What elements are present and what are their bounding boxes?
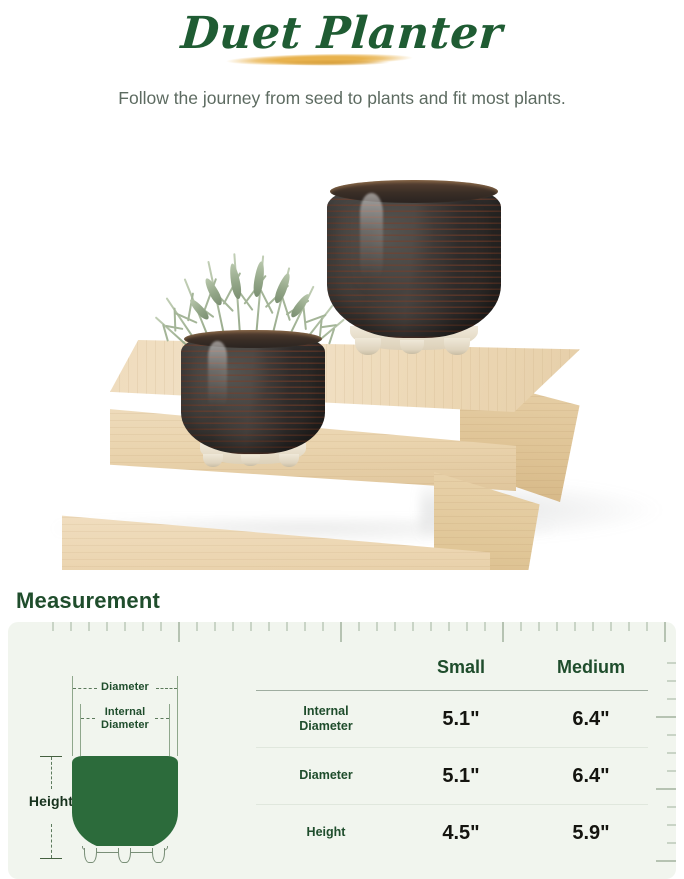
cell-internal-diameter-small: 5.1" <box>396 708 526 731</box>
medium-planter-highlight <box>360 193 383 283</box>
table-row: Diameter 5.1" 6.4" <box>256 748 656 804</box>
ruler-tick <box>574 622 576 631</box>
ruler-tick <box>394 622 396 631</box>
ruler-tick <box>448 622 450 631</box>
ruler-tick <box>106 622 108 631</box>
ruler-tick <box>358 622 360 631</box>
table-row: Height 4.5" 5.9" <box>256 805 656 861</box>
pot-silhouette <box>72 756 178 850</box>
table-header-row: Small Medium <box>256 644 656 690</box>
cell-diameter-medium: 6.4" <box>526 765 656 788</box>
pot-silhouette-foot-left <box>84 848 97 863</box>
internal-diameter-ext-right <box>169 704 170 756</box>
ruler-tick <box>538 622 540 631</box>
ruler-tick <box>628 622 630 631</box>
ruler-tick <box>667 752 676 754</box>
row-label-height: Height <box>256 825 396 840</box>
header-section: Duet Planter Follow the journey from see… <box>0 0 684 150</box>
ruler-tick <box>304 622 306 631</box>
height-cap-bottom <box>40 858 62 859</box>
ruler-tick <box>250 622 252 631</box>
ruler-tick <box>667 734 676 736</box>
ruler-tick <box>610 622 612 631</box>
ruler-tick <box>286 622 288 631</box>
ruler-tick <box>667 770 676 772</box>
hero-stage <box>0 150 684 570</box>
cell-diameter-small: 5.1" <box>396 765 526 788</box>
diameter-dash-right <box>156 688 177 689</box>
ruler-tick <box>196 622 198 631</box>
pot-silhouette-foot-right <box>152 848 165 863</box>
cell-height-medium: 5.9" <box>526 822 656 845</box>
ruler-tick <box>160 622 162 631</box>
pot-silhouette-feet <box>78 848 172 864</box>
ruler-tick <box>88 622 90 631</box>
ruler-tick <box>667 662 676 664</box>
ruler-tick <box>484 622 486 631</box>
ruler-tick <box>556 622 558 631</box>
small-planter <box>181 332 325 454</box>
ruler-tick <box>592 622 594 631</box>
ruler-tick <box>667 698 676 700</box>
small-planter-body <box>181 332 325 454</box>
row-label-line2: Diameter <box>299 719 353 733</box>
internal-diameter-label-line1: Internal <box>105 706 146 718</box>
ruler-tick <box>656 860 676 862</box>
cell-height-small: 4.5" <box>396 822 526 845</box>
small-planter-highlight <box>208 341 227 412</box>
measurement-heading: Measurement <box>16 588 160 614</box>
planter-dimension-diagram: Diameter Internal Diameter Height <box>16 652 256 876</box>
ruler-tick <box>52 622 54 631</box>
ruler-tick <box>466 622 468 631</box>
diameter-ext-right <box>177 676 178 756</box>
ruler-tick <box>646 622 648 631</box>
ruler-tick <box>322 622 324 631</box>
internal-diameter-ext-left <box>80 704 81 756</box>
hero-product-photo <box>0 150 684 570</box>
ruler-tick <box>268 622 270 631</box>
page-title: Duet Planter <box>179 8 504 60</box>
ruler-tick <box>430 622 432 631</box>
row-label-diameter: Diameter <box>256 768 396 783</box>
ruler-tick <box>376 622 378 631</box>
ruler-tick <box>667 680 676 682</box>
internal-diameter-label: Internal Diameter <box>92 706 158 731</box>
ruler-tick <box>178 622 180 642</box>
measurement-panel: Diameter Internal Diameter Height <box>8 622 676 879</box>
height-dash-upper <box>51 757 52 789</box>
ruler-tick <box>656 788 676 790</box>
ruler-tick <box>667 824 676 826</box>
ruler-tick <box>667 806 676 808</box>
ruler-tick <box>70 622 72 631</box>
ruler-tick <box>340 622 342 642</box>
pot-silhouette-foot-center <box>118 848 131 863</box>
table-header-small: Small <box>396 657 526 678</box>
ruler-tick <box>142 622 144 631</box>
height-dash-lower <box>51 824 52 858</box>
ruler-tick <box>667 842 676 844</box>
product-detail-page: Duet Planter Follow the journey from see… <box>0 0 684 879</box>
ruler-tick <box>656 716 676 718</box>
ruler-tick <box>232 622 234 631</box>
measurement-table: Small Medium Internal Diameter 5.1" 6.4"… <box>256 644 656 861</box>
ruler-tick <box>124 622 126 631</box>
title-wrap: Duet Planter <box>181 8 503 60</box>
table-row: Internal Diameter 5.1" 6.4" <box>256 691 656 747</box>
medium-planter-body <box>327 182 501 338</box>
row-label-line1: Internal <box>303 704 348 718</box>
diameter-label: Diameter <box>92 681 158 694</box>
ruler-tick <box>502 622 504 642</box>
ruler-tick <box>520 622 522 631</box>
cell-internal-diameter-medium: 6.4" <box>526 708 656 731</box>
ruler-tick <box>412 622 414 631</box>
row-label-internal-diameter: Internal Diameter <box>256 704 396 735</box>
ruler-tick <box>214 622 216 631</box>
page-subtitle: Follow the journey from seed to plants a… <box>107 86 577 111</box>
table-header-medium: Medium <box>526 657 656 678</box>
medium-planter <box>327 182 501 338</box>
internal-diameter-label-line2: Diameter <box>101 719 149 731</box>
